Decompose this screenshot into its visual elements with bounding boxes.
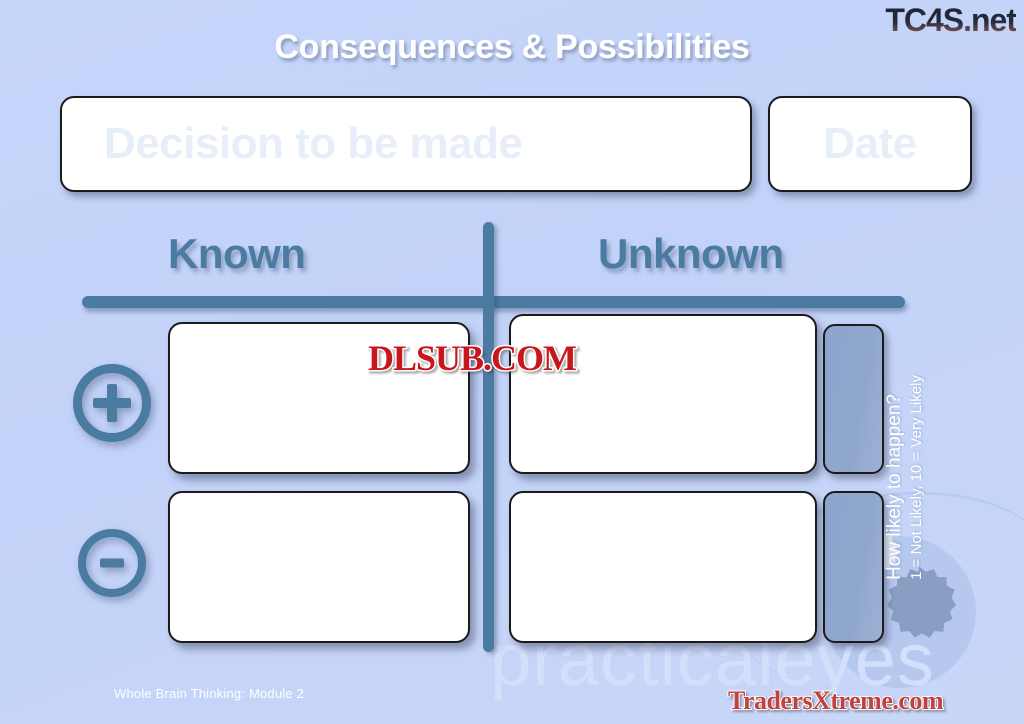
date-input[interactable]: Date: [768, 96, 972, 192]
column-header-unknown: Unknown: [598, 230, 783, 278]
worksheet-page: practicaleyes Consequences & Possibiliti…: [0, 0, 1024, 724]
date-placeholder: Date: [823, 119, 916, 169]
column-header-known: Known: [168, 230, 305, 278]
page-title: Consequences & Possibilities: [0, 28, 1024, 67]
footer-note: Whole Brain Thinking: Module 2: [114, 686, 304, 701]
cell-unknown-negative[interactable]: [509, 491, 817, 643]
likelihood-legend: How likely to happen? 1 = Not Likely, 10…: [884, 310, 946, 580]
cell-known-negative[interactable]: [168, 491, 470, 643]
likelihood-legend-title: How likely to happen?: [884, 394, 906, 580]
plus-icon: [73, 364, 151, 442]
decision-placeholder: Decision to be made: [62, 119, 522, 169]
vertical-divider: [483, 222, 494, 652]
tradersxtreme-watermark: TradersXtreme.com: [728, 686, 943, 716]
likelihood-rating-negative[interactable]: [823, 491, 884, 643]
cell-known-positive[interactable]: [168, 322, 470, 474]
likelihood-rating-positive[interactable]: [823, 324, 884, 474]
minus-icon: [78, 529, 146, 597]
plus-vertical-bar: [107, 384, 117, 422]
likelihood-legend-scale: 1 = Not Likely, 10 = Very Likely: [908, 373, 925, 580]
site-logo: TC4S.net: [885, 2, 1016, 39]
cell-unknown-positive[interactable]: [509, 314, 817, 474]
minus-horizontal-bar: [100, 559, 124, 568]
decision-input[interactable]: Decision to be made: [60, 96, 752, 192]
gear-icon: [882, 566, 956, 640]
